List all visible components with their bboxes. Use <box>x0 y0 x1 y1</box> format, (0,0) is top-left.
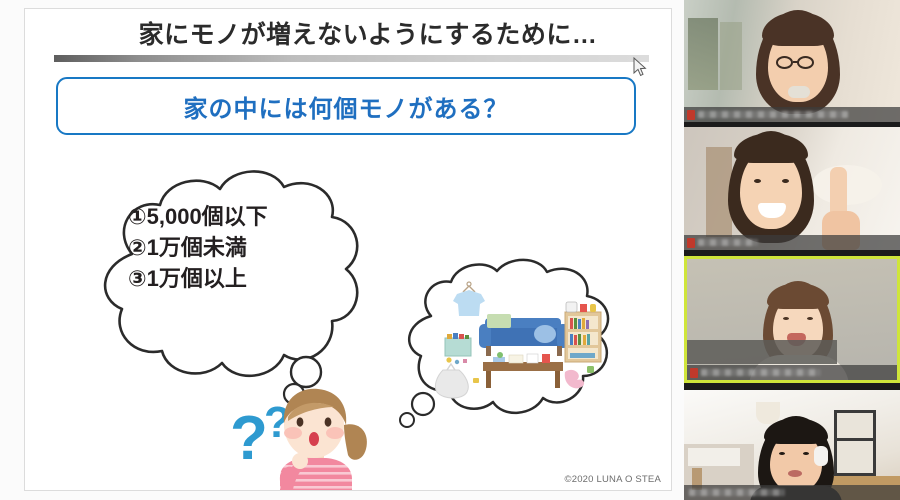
participant-namebar-1 <box>684 107 900 122</box>
slide-canvas: 家にモノが増えないようにするために… 家の中には何個モノがある？ ①5,000個… <box>24 8 672 491</box>
participant-video-2 <box>684 127 900 250</box>
participant-name-2 <box>698 239 758 246</box>
room-thought-bubble <box>387 254 637 429</box>
glasses-icon <box>776 56 820 71</box>
question-box: 家の中には何個モノがある？ <box>56 77 636 135</box>
mouse-pointer <box>633 57 647 77</box>
thinking-woman-illustration <box>240 377 410 491</box>
page-title: 家にモノが増えないようにするために… <box>103 15 633 51</box>
participant-namebar-4 <box>684 485 900 500</box>
participant-tile-1[interactable] <box>684 0 900 122</box>
participant-video-4 <box>684 390 900 500</box>
participant-tile-4[interactable] <box>684 390 900 500</box>
mute-icon <box>687 238 695 248</box>
raised-finger-icon <box>830 167 847 215</box>
participant-name-1 <box>698 111 848 118</box>
presentation-slide-area: 家にモノが増えないようにするために… 家の中には何個モノがある？ ①5,000個… <box>0 0 684 500</box>
participant-tile-3[interactable] <box>684 256 900 383</box>
screen-root: 家にモノが増えないようにするために… 家の中には何個モノがある？ ①5,000個… <box>0 0 900 500</box>
participant-video-1 <box>684 0 900 122</box>
participant-name-4 <box>689 489 785 496</box>
woman-figure-icon <box>240 377 410 491</box>
answer-option-1: ①5,000個以下 <box>128 201 368 232</box>
answer-option-2: ②1万個未満 <box>128 232 368 263</box>
answer-option-3: ③1万個以上 <box>128 263 368 294</box>
participant-namebar-3 <box>687 365 897 380</box>
participant-namebar-2 <box>684 235 900 250</box>
bookshelf-icon <box>565 300 601 362</box>
participant-tile-2[interactable] <box>684 127 900 250</box>
mute-icon <box>687 110 695 120</box>
participant-name-3 <box>701 369 821 376</box>
thought-cloud-room-icon <box>387 254 637 429</box>
title-divider <box>54 55 649 62</box>
headset-icon <box>814 446 828 466</box>
answer-options-list: ①5,000個以下 ②1万個未満 ③1万個以上 <box>128 201 368 295</box>
answers-thought-bubble: ①5,000個以下 ②1万個未満 ③1万個以上 <box>70 159 380 414</box>
copyright-text: ©2020 LUNA O STEA <box>565 474 661 485</box>
question-text: 家の中には何個モノがある？ <box>184 89 509 124</box>
participant-video-3 <box>687 259 897 380</box>
mute-icon <box>690 368 698 378</box>
video-participants-panel <box>684 0 900 500</box>
